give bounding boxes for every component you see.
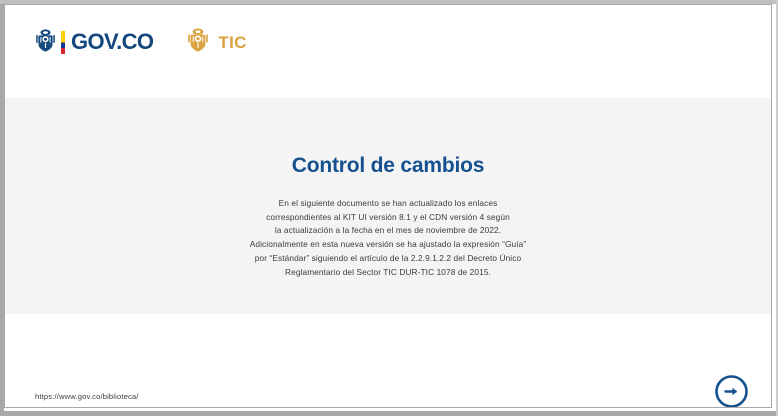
window-edge-bottom bbox=[0, 411, 778, 416]
paragraph-line: En el siguiente documento se han actuali… bbox=[5, 197, 771, 211]
paragraph-line: correspondientes al KIT UI versión 8.1 y… bbox=[5, 211, 771, 225]
paragraph-line: por “Estándar” siguiendo el artículo de … bbox=[5, 252, 771, 266]
paragraph-line: la actualización a la fecha en el mes de… bbox=[5, 224, 771, 238]
page-title: Control de cambios bbox=[5, 154, 771, 178]
govco-wordmark: GOV.CO bbox=[71, 31, 153, 53]
govco-logo[interactable]: GOV.CO bbox=[35, 28, 153, 57]
screenshot-canvas: GOV.CO bbox=[0, 0, 778, 416]
biblioteca-link[interactable]: https://www.gov.co/biblioteca/ bbox=[35, 392, 139, 401]
colombia-flag-bar-icon bbox=[61, 31, 65, 54]
logo-row: GOV.CO bbox=[35, 27, 247, 57]
paragraph-line: Adicionalmente en esta nueva versión se … bbox=[5, 238, 771, 252]
colombia-coat-of-arms-icon bbox=[187, 27, 209, 57]
tic-logo[interactable]: TIC bbox=[187, 27, 246, 57]
slide-header: GOV.CO bbox=[5, 5, 771, 98]
slide-footer: https://www.gov.co/biblioteca/ bbox=[5, 314, 771, 407]
window-edge-left bbox=[0, 0, 4, 416]
paragraph-line: Reglamentario del Sector TIC DUR-TIC 107… bbox=[5, 266, 771, 280]
change-log-paragraph: En el siguiente documento se han actuali… bbox=[5, 197, 771, 279]
slide-body: Control de cambios En el siguiente docum… bbox=[5, 98, 771, 314]
tic-wordmark: TIC bbox=[218, 34, 246, 51]
presentation-slide: GOV.CO bbox=[4, 4, 772, 408]
colombia-coat-of-arms-icon bbox=[35, 28, 56, 57]
arrow-right-circle-icon[interactable] bbox=[715, 375, 748, 408]
window-edge-top bbox=[0, 0, 778, 4]
